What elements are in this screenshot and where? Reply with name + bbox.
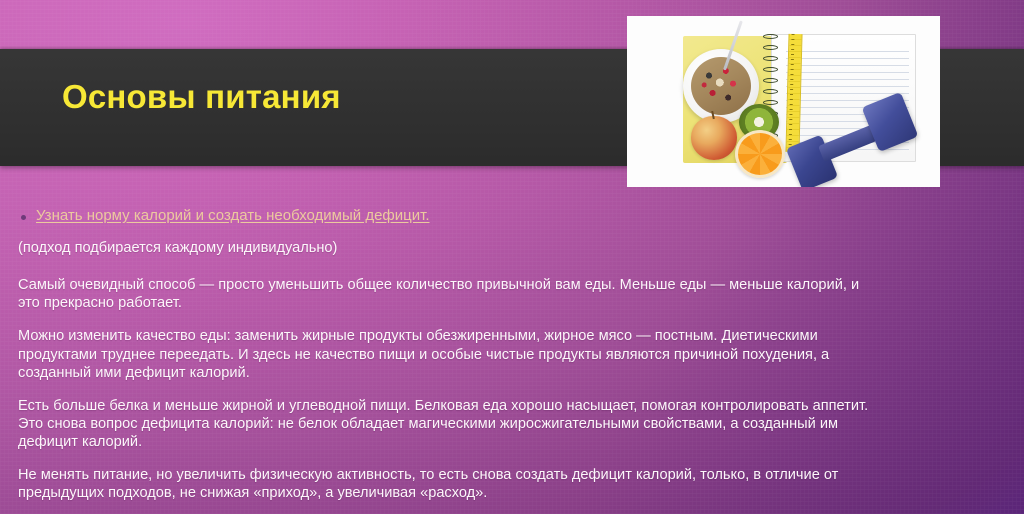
paragraph-note: (подход подбирается каждому индивидуальн… [18, 239, 880, 258]
paragraph-4: Не менять питание, но увеличить физическ… [18, 466, 880, 502]
nutrition-photo [627, 16, 940, 187]
slide-body: Узнать норму калорий и создать необходим… [18, 206, 880, 514]
paragraph-1: Самый очевидный способ — просто уменьшит… [18, 276, 880, 312]
muesli-contents [691, 57, 751, 115]
bullet-item: Узнать норму калорий и создать необходим… [18, 206, 880, 226]
paragraph-2: Можно изменить качество еды: заменить жи… [18, 327, 880, 381]
paragraph-3: Есть больше белка и меньше жирной и угле… [18, 397, 880, 451]
page-title: Основы питания [62, 78, 341, 116]
orange-icon [735, 130, 785, 178]
apple-icon [691, 116, 737, 160]
bullet-dot-icon [21, 215, 26, 220]
presentation-slide: Основы питания [0, 0, 1024, 514]
bullet-item-label[interactable]: Узнать норму калорий и создать необходим… [36, 206, 430, 226]
dumbbell-icon [795, 102, 923, 184]
photo-canvas [627, 16, 940, 187]
